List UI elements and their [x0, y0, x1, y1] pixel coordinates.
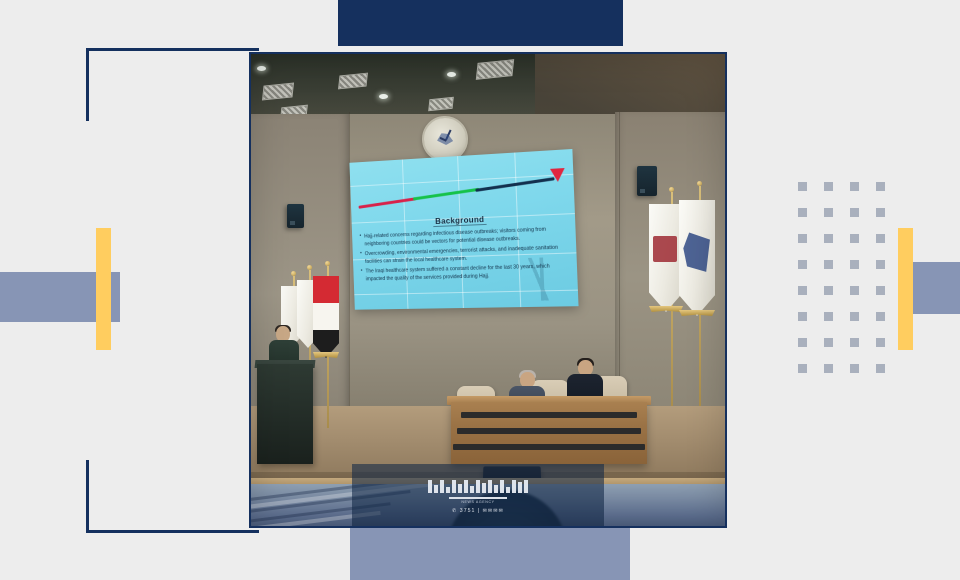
decor-dot — [824, 364, 833, 373]
flag-finial-icon — [307, 265, 312, 270]
decor-dot — [850, 208, 859, 217]
wordmark-stroke — [500, 480, 504, 493]
flag-finial-icon — [291, 271, 296, 276]
decor-dot — [824, 182, 833, 191]
wordmark-stroke — [434, 485, 438, 493]
decor-dot — [876, 338, 885, 347]
decor-dot — [850, 260, 859, 269]
decor-corner-bracket-bottom-left — [86, 460, 259, 533]
wordmark-stroke — [524, 480, 528, 493]
wordmark-stroke — [464, 480, 468, 493]
wordmark-stroke — [446, 487, 450, 493]
decor-dot — [876, 234, 885, 243]
photo-scene: Background Hajj-related concerns regardi… — [251, 54, 725, 526]
desk-slat — [453, 444, 645, 450]
decor-navy-block-top — [338, 0, 623, 46]
decor-dot — [798, 208, 807, 217]
decor-slate-band-right — [910, 262, 960, 314]
agency-contact: ✆ 3751 | ✉✉✉✉ — [352, 508, 604, 514]
wordmark-stroke — [452, 480, 456, 493]
decor-dot — [824, 312, 833, 321]
decor-dot — [850, 286, 859, 295]
slide-trend-arrow — [358, 176, 568, 212]
decor-dot — [824, 286, 833, 295]
institution-flag-blue-emblem — [679, 200, 715, 316]
decor-dot — [876, 260, 885, 269]
decor-dot — [876, 312, 885, 321]
decor-dot — [798, 234, 807, 243]
ceiling-light-icon — [447, 72, 456, 77]
agency-wordmark-icon — [428, 480, 528, 493]
arrow-head-icon — [550, 168, 565, 182]
decor-dot — [850, 338, 859, 347]
wordmark-stroke — [494, 485, 498, 493]
decor-dot — [876, 286, 885, 295]
clock-emblem-icon — [437, 133, 454, 146]
wordmark-stroke — [476, 480, 480, 493]
wall-seam — [619, 112, 620, 414]
ceiling-light-icon — [379, 94, 388, 99]
decor-dot — [850, 234, 859, 243]
panel-desk — [451, 402, 647, 464]
wordmark-stroke — [512, 480, 516, 493]
slide-watermark-icon — [518, 257, 567, 301]
decor-dot — [798, 182, 807, 191]
projection-screen: Background Hajj-related concerns regardi… — [349, 149, 578, 310]
decor-dot — [798, 312, 807, 321]
decor-dot — [876, 364, 885, 373]
agency-subtitle: NEWS AGENCY — [352, 500, 604, 504]
photo-watermark-bar: NEWS AGENCY ✆ 3751 | ✉✉✉✉ — [352, 464, 604, 526]
decor-yellow-bar-left — [96, 228, 111, 350]
decor-dot — [850, 312, 859, 321]
wordmark-stroke — [440, 480, 444, 493]
wordmark-stroke — [506, 487, 510, 493]
wordmark-stroke — [488, 480, 492, 493]
flag-finial-icon — [669, 187, 674, 192]
decor-dot — [876, 208, 885, 217]
wordmark-stroke — [428, 480, 432, 493]
decor-dot — [798, 286, 807, 295]
desk-slat — [457, 428, 641, 434]
wordmark-stroke — [470, 486, 474, 493]
decor-dot — [876, 182, 885, 191]
decor-dot-grid — [798, 182, 902, 390]
flag-emblem-icon — [653, 236, 677, 262]
arrow-segment-red — [358, 197, 416, 208]
conference-photo: Background Hajj-related concerns regardi… — [249, 52, 727, 528]
decor-dot — [824, 234, 833, 243]
decor-dot — [850, 182, 859, 191]
wall-seam — [349, 112, 350, 414]
flag-emblem-icon — [683, 232, 710, 271]
wall-speaker-left-icon — [287, 204, 304, 228]
wordmark-stroke — [458, 484, 462, 493]
iraq-flag — [313, 276, 339, 358]
ceiling-light-icon — [257, 66, 266, 71]
wordmark-stroke — [482, 483, 486, 493]
decor-corner-bracket-top-left — [86, 48, 259, 121]
arrow-segment-green — [413, 188, 479, 200]
decor-dot — [798, 338, 807, 347]
decor-blue-block-bottom — [350, 528, 630, 580]
wordmark-stroke — [518, 482, 522, 493]
agency-wordmark-rule — [449, 497, 507, 499]
decor-dot — [824, 338, 833, 347]
institution-flag-red-emblem — [649, 204, 683, 312]
decor-dot — [850, 364, 859, 373]
flag-finial-icon — [325, 261, 330, 266]
decor-dot — [824, 208, 833, 217]
composition-canvas: Background Hajj-related concerns regardi… — [0, 0, 960, 580]
decor-dot — [798, 364, 807, 373]
lectern — [257, 364, 313, 464]
wall-speaker-right-icon — [637, 166, 657, 196]
flag-finial-icon — [697, 181, 702, 186]
decor-dot — [824, 260, 833, 269]
decor-dot — [798, 260, 807, 269]
desk-slat — [461, 412, 637, 418]
